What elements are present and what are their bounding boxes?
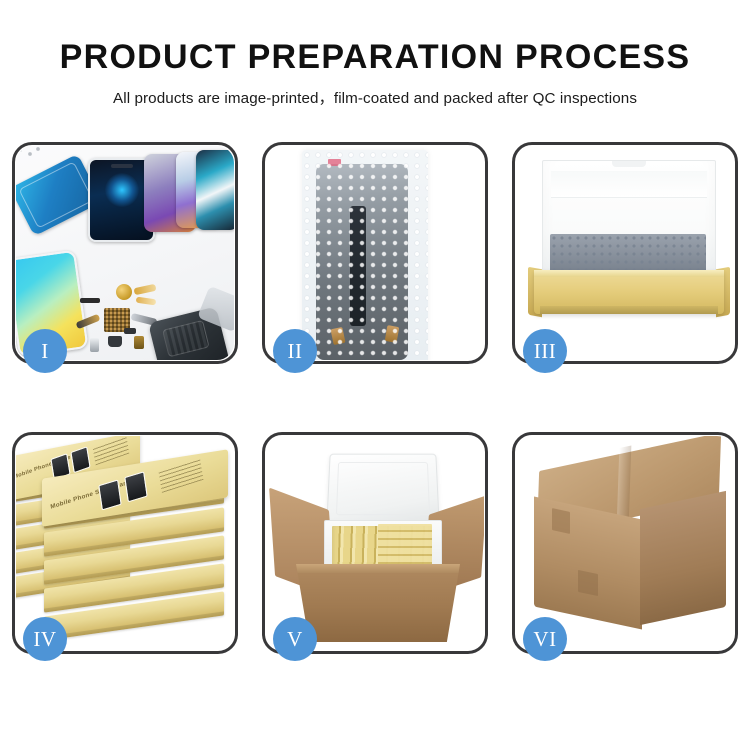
step-card-4: Mobile Phone Spare Parts Mobile Phone Sp… (12, 432, 238, 654)
box-art-phone-4-icon (124, 471, 147, 502)
component-flex-cable-2-icon (136, 297, 157, 306)
step-badge-2: II (273, 329, 317, 373)
step-3-photo (516, 146, 734, 360)
bubble-wrap-pouch-icon (302, 150, 428, 360)
component-bar-icon (80, 298, 100, 303)
product-preparation-infographic: PRODUCT PREPARATION PROCESS All products… (0, 0, 750, 750)
component-speaker-coil-icon (116, 284, 132, 300)
component-speaker-icon (108, 336, 122, 347)
foam-lid-icon (326, 454, 440, 527)
step-card-6: VI (512, 432, 738, 654)
step-2-photo (266, 146, 484, 360)
step-badge-6: VI (523, 617, 567, 661)
step-1-photo (16, 146, 234, 360)
carton-tape-icon (552, 508, 570, 534)
step-card-3: III (512, 142, 738, 364)
header: PRODUCT PREPARATION PROCESS All products… (0, 0, 750, 108)
step-badge-5: V (273, 617, 317, 661)
step-card-1: I (12, 142, 238, 364)
box-art-phone-2-icon (70, 446, 90, 473)
step-card-2: II (262, 142, 488, 364)
step-badge-3: III (523, 329, 567, 373)
page-title: PRODUCT PREPARATION PROCESS (0, 0, 750, 77)
component-small-icon (124, 328, 136, 334)
box-spec-lines-back (93, 436, 129, 465)
component-camera-icon (134, 336, 144, 349)
qc-sticker-icon (328, 159, 341, 166)
step-badge-4: IV (23, 617, 67, 661)
packed-boxes-row-2-icon (378, 524, 432, 570)
phone-display-teal-icon (196, 150, 234, 230)
page-subtitle: All products are image-printed，film-coat… (0, 77, 750, 108)
step-card-5: V (262, 432, 488, 654)
box-spec-lines-front (159, 459, 204, 493)
component-screws-icon (16, 146, 42, 158)
carton-right-panel-icon (640, 491, 726, 625)
component-flex-cable-1-icon (134, 284, 157, 295)
step-badge-1: I (23, 329, 67, 373)
box-art-phone-3-icon (98, 479, 121, 510)
carton-left-panel-icon (534, 497, 642, 630)
process-steps-grid: I II (12, 142, 738, 682)
component-button-icon (90, 338, 99, 352)
kraft-tray-icon (534, 270, 724, 314)
wrapped-flex-cable-icon (350, 206, 366, 326)
carton-front-panel-icon (296, 564, 460, 642)
